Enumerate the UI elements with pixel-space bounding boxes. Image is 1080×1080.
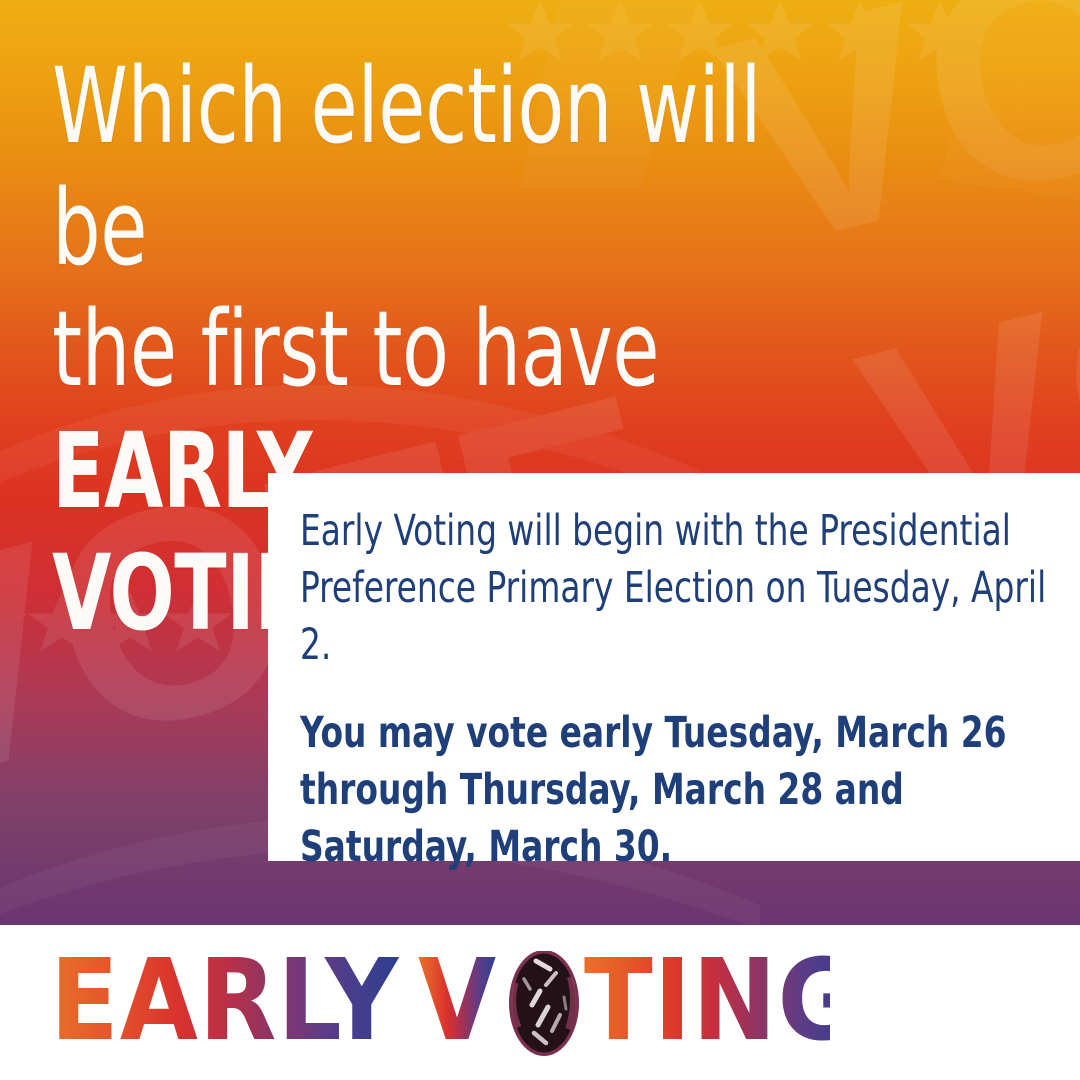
info-card-paragraph-dates: You may vote early Tuesday, March 26 thr… (300, 705, 1048, 877)
filled-ballot-oval-icon (509, 951, 579, 1056)
info-card: Early Voting will begin with the Preside… (268, 473, 1080, 861)
wordmark-ting: TING (584, 951, 830, 1057)
info-card-paragraph-primary: Early Voting will begin with the Preside… (300, 503, 1048, 675)
wordmark-early: EARLY (50, 951, 399, 1057)
early-voting-wordmark: EARLY V (50, 951, 830, 1057)
headline-line-2-prefix: the first to have (52, 288, 659, 410)
wordmark-letter-v: V (418, 951, 496, 1057)
logo-area: EARLY V (0, 925, 1080, 1080)
headline-line-1: Which election will be (52, 45, 761, 289)
early-voting-poster: VOTE VOTE VOT (0, 0, 1080, 1080)
